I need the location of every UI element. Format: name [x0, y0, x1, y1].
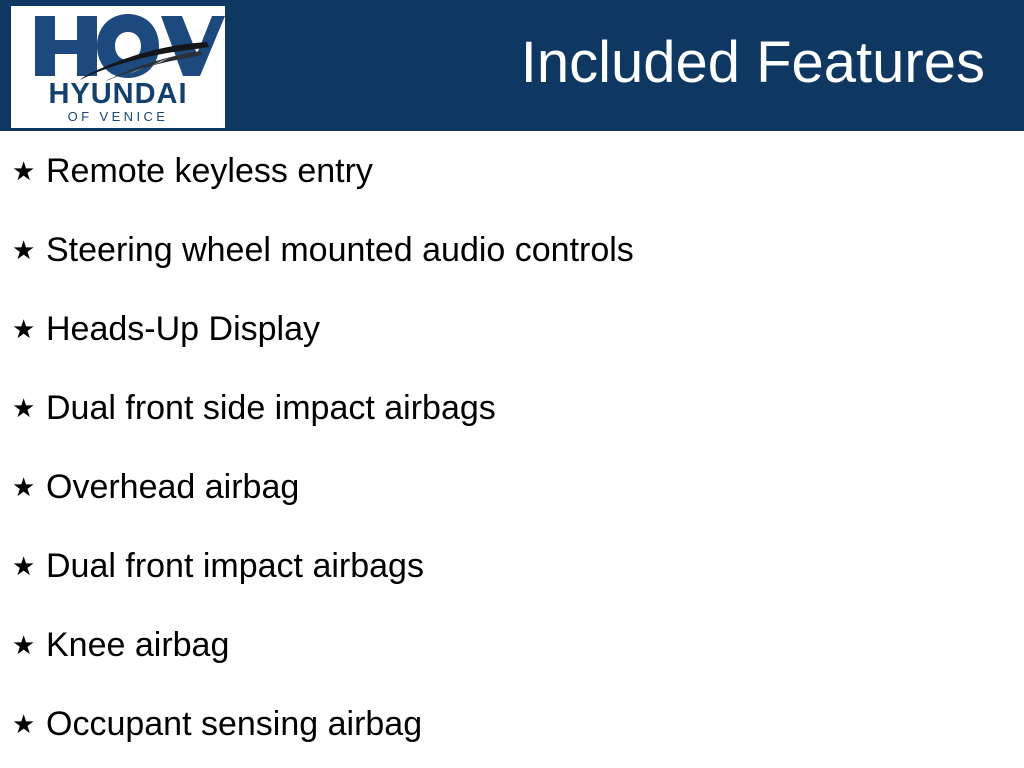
- list-item-label: Overhead airbag: [46, 465, 299, 509]
- star-bullet-icon: ★: [12, 544, 46, 588]
- list-item: ★ Remote keyless entry: [12, 149, 373, 193]
- list-item-label: Dual front side impact airbags: [46, 386, 496, 430]
- list-item: ★ Dual front impact airbags: [12, 544, 424, 588]
- list-item: ★ Knee airbag: [12, 623, 229, 667]
- dealer-logo: HYUNDAI OF VENICE: [11, 6, 225, 128]
- star-bullet-icon: ★: [12, 702, 46, 746]
- list-item-label: Dual front impact airbags: [46, 544, 424, 588]
- hov-logo-icon: [11, 10, 225, 82]
- list-item: ★ Occupant sensing airbag: [12, 702, 422, 746]
- list-item-label: Steering wheel mounted audio controls: [46, 228, 634, 272]
- star-bullet-icon: ★: [12, 149, 46, 193]
- logo-brand-text: HYUNDAI: [11, 80, 225, 109]
- star-bullet-icon: ★: [12, 623, 46, 667]
- star-bullet-icon: ★: [12, 228, 46, 272]
- star-bullet-icon: ★: [12, 307, 46, 351]
- list-item-label: Occupant sensing airbag: [46, 702, 422, 746]
- list-item: ★ Heads-Up Display: [12, 307, 320, 351]
- page-title: Included Features: [521, 28, 985, 98]
- list-item: ★ Dual front side impact airbags: [12, 386, 496, 430]
- list-item: ★ Overhead airbag: [12, 465, 299, 509]
- included-features-list: ★ Remote keyless entry ★ Steering wheel …: [0, 131, 1024, 768]
- list-item: ★ Steering wheel mounted audio controls: [12, 228, 634, 272]
- star-bullet-icon: ★: [12, 386, 46, 430]
- list-item-label: Heads-Up Display: [46, 307, 320, 351]
- list-item-label: Remote keyless entry: [46, 149, 373, 193]
- slide-canvas: HYUNDAI OF VENICE Included Features ★ Re…: [0, 0, 1024, 768]
- list-item-label: Knee airbag: [46, 623, 229, 667]
- logo-location-text: OF VENICE: [11, 110, 225, 123]
- star-bullet-icon: ★: [12, 465, 46, 509]
